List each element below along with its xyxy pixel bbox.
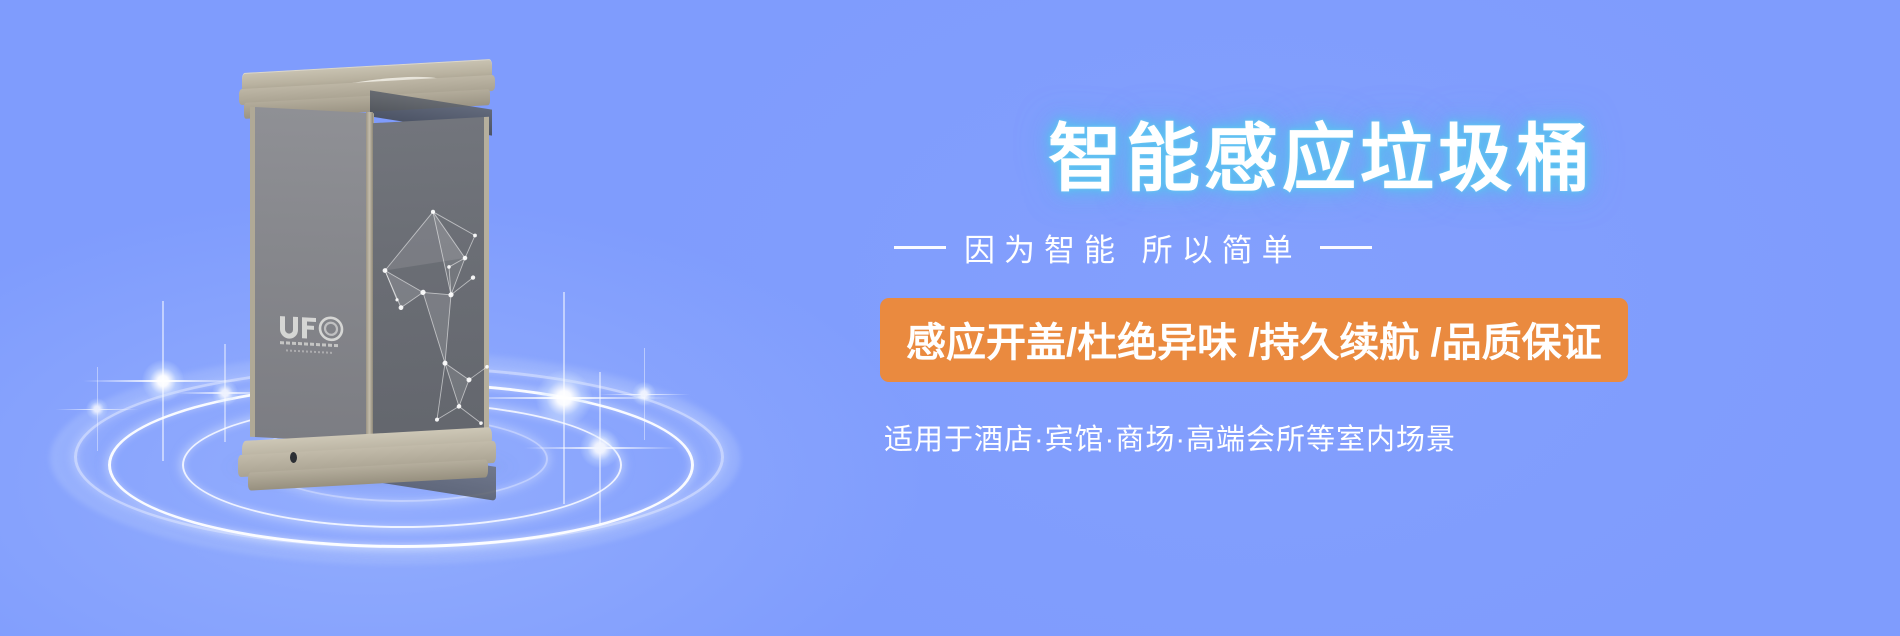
subline-row: 因为智能 所以简单	[894, 225, 1760, 270]
copy-block: 智能感应垃圾桶 因为智能 所以简单 感应开盖/杜绝异味 /持久续航 /品质保证 …	[880, 118, 1760, 458]
feature-pill-text: 感应开盖/杜绝异味 /持久续航 /品质保证	[906, 321, 1602, 365]
feature-pill: 感应开盖/杜绝异味 /持久续航 /品质保证	[880, 298, 1628, 382]
usage-scenarios-text: 适用于酒店·宾馆·商场·高端会所等室内场景	[884, 416, 1760, 458]
subline-text: 因为智能 所以简单	[964, 225, 1302, 270]
headline-title: 智能感应垃圾桶	[1048, 118, 1760, 201]
rule-left-icon	[894, 246, 946, 249]
network-pattern-graphic	[371, 117, 489, 454]
product-stage	[60, 30, 820, 610]
rule-right-icon	[1320, 246, 1372, 249]
body-face-left	[250, 107, 374, 443]
sensor-dot	[290, 452, 297, 463]
product-image-trash-can	[238, 48, 498, 468]
promo-banner: 智能感应垃圾桶 因为智能 所以简单 感应开盖/杜绝异味 /持久续航 /品质保证 …	[0, 0, 1900, 636]
brand-logo-ufo	[276, 310, 356, 362]
